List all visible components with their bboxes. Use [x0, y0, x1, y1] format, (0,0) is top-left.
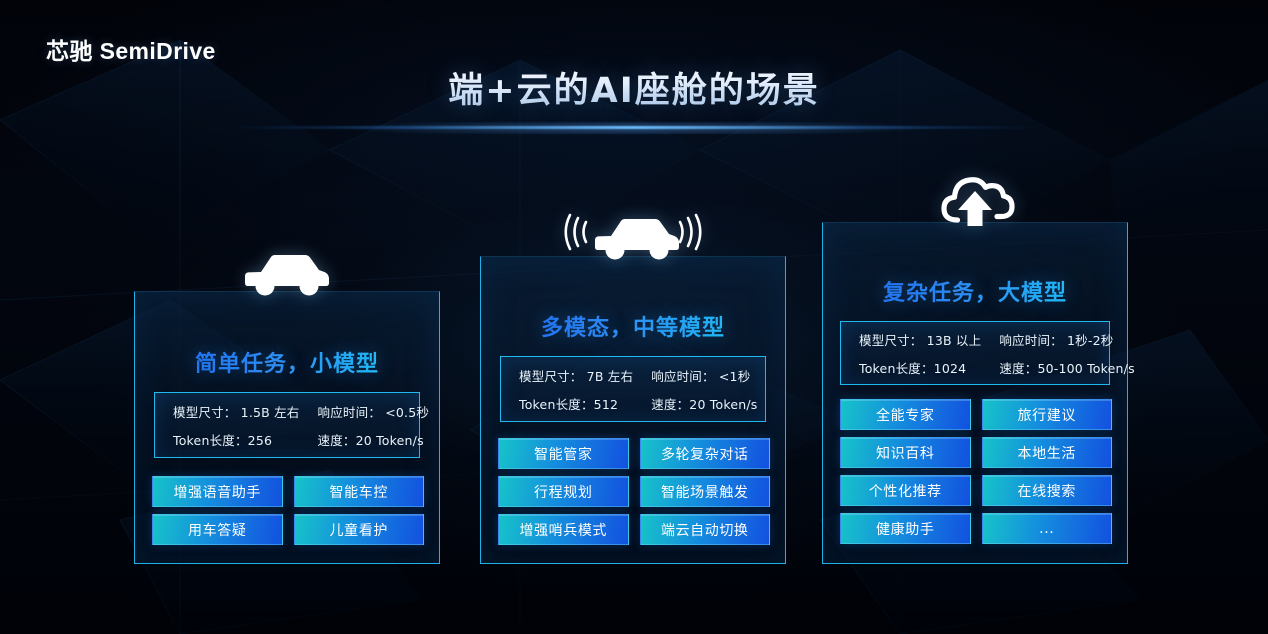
chip-item[interactable]: 在线搜索 — [982, 475, 1113, 506]
spec-speed: 速度：20 Token/s — [300, 430, 430, 449]
card-heading-cloud: 复杂任务，大模型 — [822, 275, 1128, 307]
chip-item[interactable]: 智能场景触发 — [640, 476, 771, 507]
chip-item[interactable]: 知识百科 — [840, 437, 971, 468]
spec-model-size: 模型尺寸： 13B 以上 — [859, 330, 981, 349]
card-heading-multimodal: 多模态，中等模型 — [480, 310, 786, 342]
spec-speed: 速度：20 Token/s — [633, 394, 757, 413]
chip-grid-edge: 增强语音助手 智能车控 用车答疑 儿童看护 — [152, 476, 424, 545]
chip-item[interactable]: 个性化推荐 — [840, 475, 971, 506]
brand-logo: 芯驰 SemiDrive — [46, 32, 216, 66]
spec-model-size: 模型尺寸： 1.5B 左右 — [173, 402, 300, 421]
chip-item[interactable]: 智能管家 — [498, 438, 629, 469]
slide-root: 芯驰 SemiDrive 端+云的AI座舱的场景 简单任务，小模型 模型尺寸： … — [0, 0, 1268, 634]
connected-car-icon — [480, 208, 786, 260]
chip-item[interactable]: 健康助手 — [840, 513, 971, 544]
chip-item[interactable]: 行程规划 — [498, 476, 629, 507]
spec-speed: 速度：50-100 Token/s — [981, 358, 1134, 377]
chip-item[interactable]: 本地生活 — [982, 437, 1113, 468]
chip-item[interactable]: 增强语音助手 — [152, 476, 283, 507]
chip-item[interactable]: 用车答疑 — [152, 514, 283, 545]
chip-item[interactable]: 多轮复杂对话 — [640, 438, 771, 469]
chip-item[interactable]: 儿童看护 — [294, 514, 425, 545]
spec-token-length: Token长度：256 — [173, 430, 300, 449]
spec-token-length: Token长度：1024 — [859, 358, 981, 377]
chip-item[interactable]: 全能专家 — [840, 399, 971, 430]
spec-box-edge: 模型尺寸： 1.5B 左右 响应时间： <0.5秒 Token长度：256 速度… — [154, 392, 420, 458]
spec-response-time: 响应时间： <1秒 — [633, 366, 757, 385]
title-divider — [232, 126, 1036, 129]
chip-item[interactable]: 端云自动切换 — [640, 514, 771, 545]
spec-response-time: 响应时间： <0.5秒 — [300, 402, 430, 421]
brand-logo-en: SemiDrive — [100, 38, 216, 64]
spec-box-multimodal: 模型尺寸： 7B 左右 响应时间： <1秒 Token长度：512 速度：20 … — [500, 356, 766, 422]
car-icon — [134, 246, 440, 296]
spec-token-length: Token长度：512 — [519, 394, 633, 413]
chip-item[interactable]: 智能车控 — [294, 476, 425, 507]
page-title: 端+云的AI座舱的场景 — [0, 62, 1268, 113]
chip-item[interactable]: ... — [982, 513, 1113, 544]
chip-item[interactable]: 旅行建议 — [982, 399, 1113, 430]
spec-response-time: 响应时间： 1秒-2秒 — [981, 330, 1134, 349]
spec-box-cloud: 模型尺寸： 13B 以上 响应时间： 1秒-2秒 Token长度：1024 速度… — [840, 321, 1110, 385]
spec-model-size: 模型尺寸： 7B 左右 — [519, 366, 633, 385]
chip-grid-cloud: 全能专家 旅行建议 知识百科 本地生活 个性化推荐 在线搜索 健康助手 ... — [840, 399, 1112, 544]
card-heading-edge: 简单任务，小模型 — [134, 346, 440, 378]
cloud-upload-icon — [822, 174, 1128, 226]
chip-item[interactable]: 增强哨兵模式 — [498, 514, 629, 545]
chip-grid-multimodal: 智能管家 多轮复杂对话 行程规划 智能场景触发 增强哨兵模式 端云自动切换 — [498, 438, 770, 545]
